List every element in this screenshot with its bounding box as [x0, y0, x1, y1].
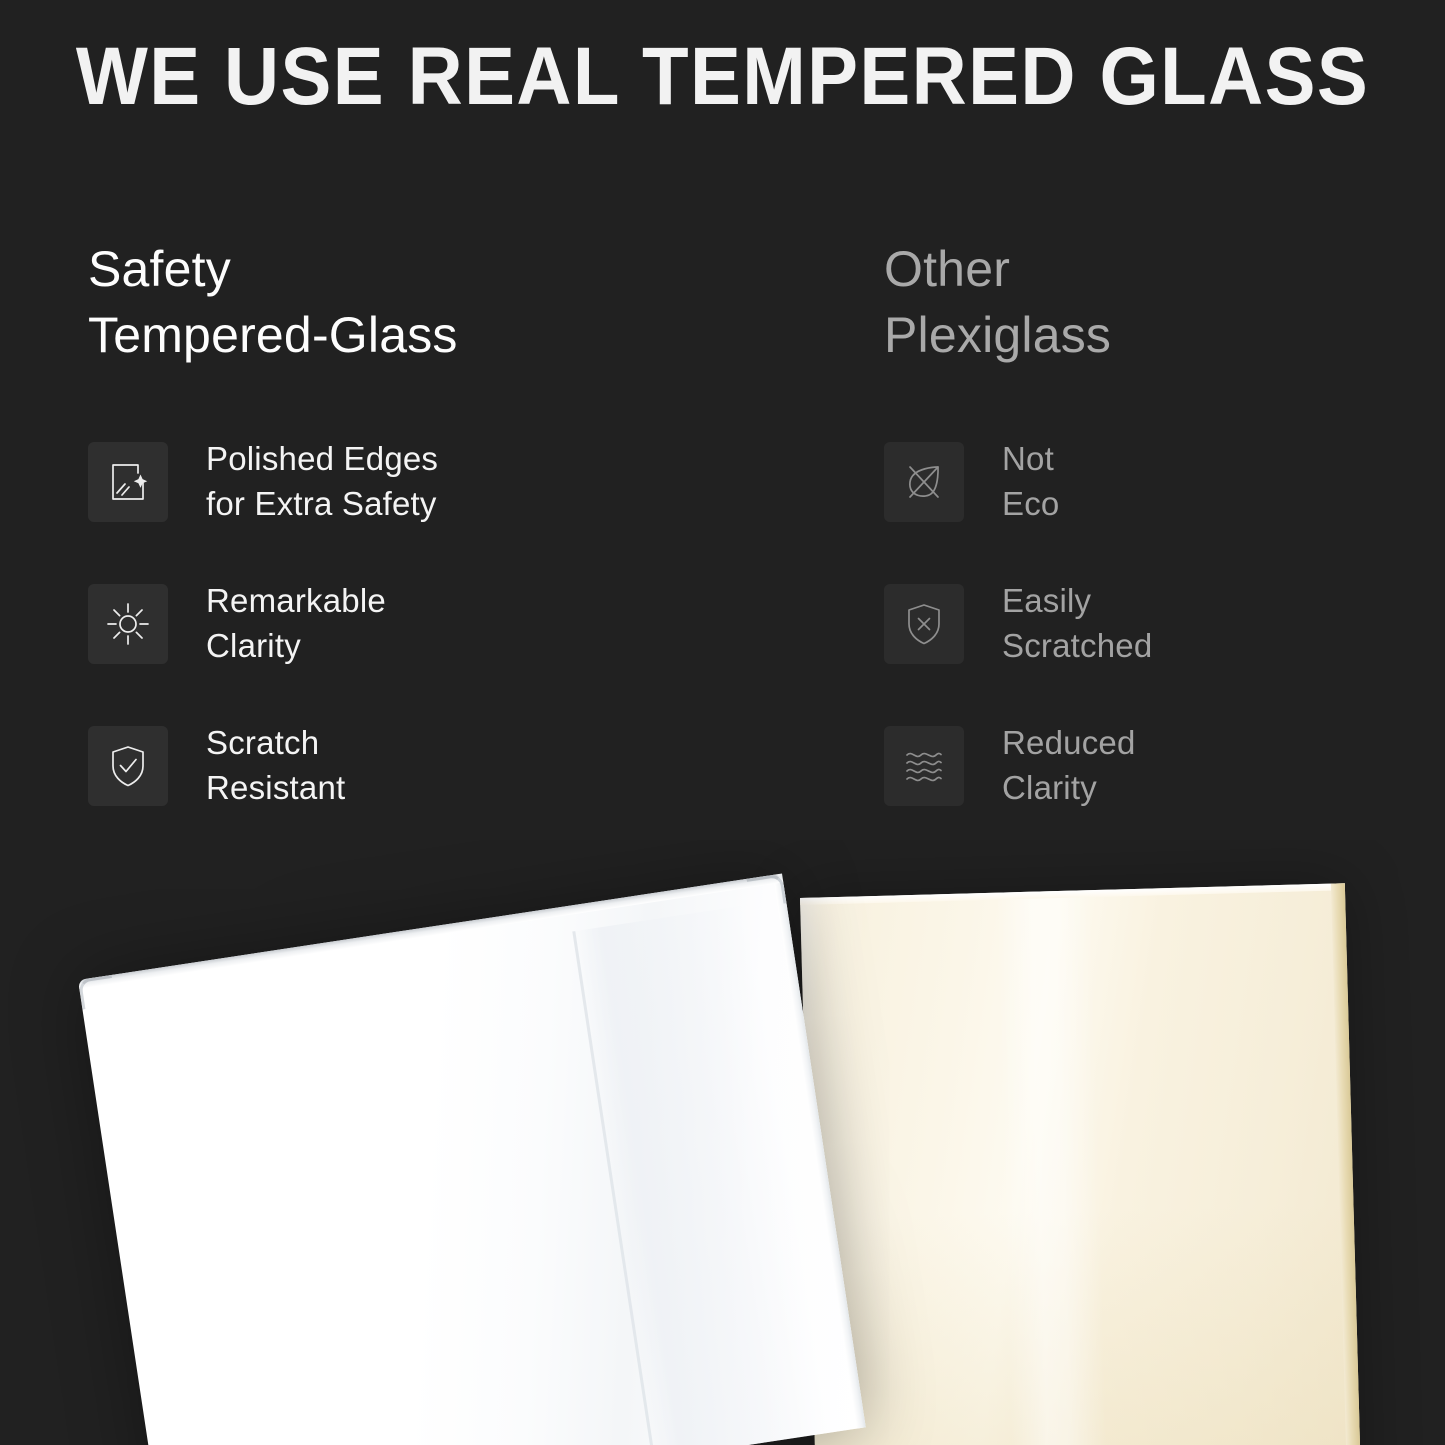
feature-label-easily-scratched: Easily Scratched: [1002, 579, 1152, 669]
shield-x-icon: [884, 584, 964, 664]
comparison-column-safety-tempered-glass: Safety Tempered-Glass Polished Edges for…: [88, 236, 788, 368]
feature-label-remarkable-clarity: Remarkable Clarity: [206, 579, 386, 669]
comparison-section: Safety Tempered-Glass Polished Edges for…: [0, 0, 1445, 850]
comparison-column-other-plexiglass: Other Plexiglass Not Eco: [884, 236, 1444, 368]
wavy-lines-distortion-icon: [884, 726, 964, 806]
column-title-other-plexiglass: Other Plexiglass: [884, 236, 1444, 368]
plexiglass-panel: [800, 883, 1362, 1445]
tempered-glass-panel: [78, 874, 866, 1445]
leaf-crossed-out-icon: [884, 442, 964, 522]
feature-row-scratch-resistant: Scratch Resistant: [88, 726, 788, 806]
shield-check-icon: [88, 726, 168, 806]
polished-glass-pane-sparkle-icon: [88, 442, 168, 522]
tempered-glass-panel-corner-right: [746, 874, 786, 909]
feature-row-not-eco: Not Eco: [884, 442, 1444, 522]
feature-label-scratch-resistant: Scratch Resistant: [206, 721, 345, 811]
feature-row-remarkable-clarity: Remarkable Clarity: [88, 584, 788, 664]
feature-row-easily-scratched: Easily Scratched: [884, 584, 1444, 664]
sun-brightness-icon: [88, 584, 168, 664]
feature-label-polished-edges: Polished Edges for Extra Safety: [206, 437, 438, 527]
column-title-safety-tempered-glass: Safety Tempered-Glass: [88, 236, 788, 368]
feature-list-left: Polished Edges for Extra Safety Remarkab…: [88, 442, 788, 806]
feature-row-polished-edges: Polished Edges for Extra Safety: [88, 442, 788, 522]
product-photo: [0, 840, 1445, 1445]
tempered-glass-panel-corner-left: [78, 975, 116, 1010]
plexiglass-panel-reflection: [996, 890, 1109, 1445]
feature-label-not-eco: Not Eco: [1002, 437, 1059, 527]
feature-label-reduced-clarity: Reduced Clarity: [1002, 721, 1136, 811]
feature-row-reduced-clarity: Reduced Clarity: [884, 726, 1444, 806]
feature-list-right: Not Eco Easily Scratched: [884, 442, 1444, 806]
